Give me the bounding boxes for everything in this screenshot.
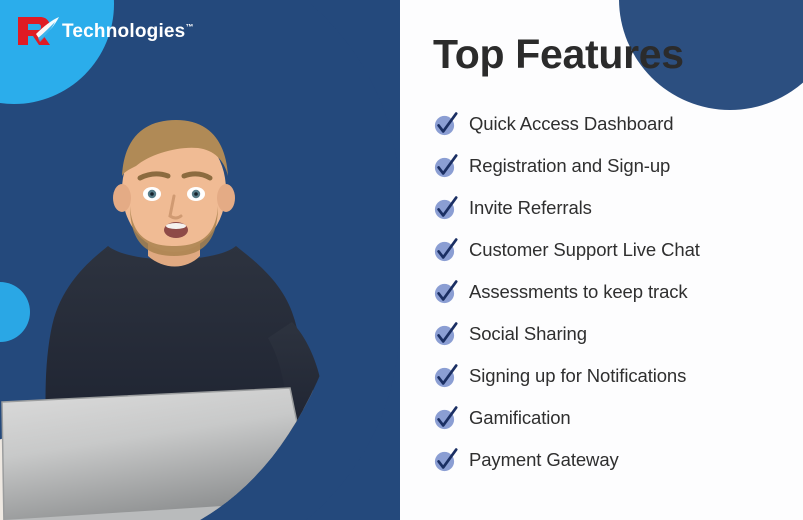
feature-label: Assessments to keep track	[469, 283, 688, 302]
feature-label: Social Sharing	[469, 325, 587, 344]
feature-item: Registration and Sign-up	[433, 145, 793, 187]
feature-slide: Technologies™ Top Features Quick Access …	[0, 0, 803, 520]
brand-name: Technologies™	[62, 22, 194, 41]
check-circle-icon	[433, 196, 458, 221]
feature-label: Customer Support Live Chat	[469, 241, 700, 260]
page-title: Top Features	[433, 34, 684, 75]
feature-label: Invite Referrals	[469, 199, 592, 218]
feature-item: Payment Gateway	[433, 439, 793, 481]
feature-item: Signing up for Notifications	[433, 355, 793, 397]
check-circle-icon	[433, 448, 458, 473]
check-circle-icon	[433, 112, 458, 137]
feature-label: Gamification	[469, 409, 571, 428]
check-circle-icon	[433, 364, 458, 389]
check-circle-icon	[433, 238, 458, 263]
feature-item: Customer Support Live Chat	[433, 229, 793, 271]
feature-item: Gamification	[433, 397, 793, 439]
check-circle-icon	[433, 322, 458, 347]
feature-list: Quick Access DashboardRegistration and S…	[433, 103, 793, 481]
feature-label: Quick Access Dashboard	[469, 115, 673, 134]
check-circle-icon	[433, 154, 458, 179]
man-with-laptop-photo	[0, 50, 400, 520]
r-arrow-logo-icon	[14, 14, 60, 48]
brand-logo[interactable]: Technologies™	[14, 14, 194, 48]
feature-item: Social Sharing	[433, 313, 793, 355]
feature-label: Payment Gateway	[469, 451, 619, 470]
feature-label: Signing up for Notifications	[469, 367, 686, 386]
feature-label: Registration and Sign-up	[469, 157, 670, 176]
check-circle-icon	[433, 280, 458, 305]
content-column: Top Features Quick Access DashboardRegis…	[433, 0, 793, 520]
feature-item: Assessments to keep track	[433, 271, 793, 313]
feature-item: Invite Referrals	[433, 187, 793, 229]
check-circle-icon	[433, 406, 458, 431]
feature-item: Quick Access Dashboard	[433, 103, 793, 145]
trademark-symbol: ™	[185, 22, 193, 31]
